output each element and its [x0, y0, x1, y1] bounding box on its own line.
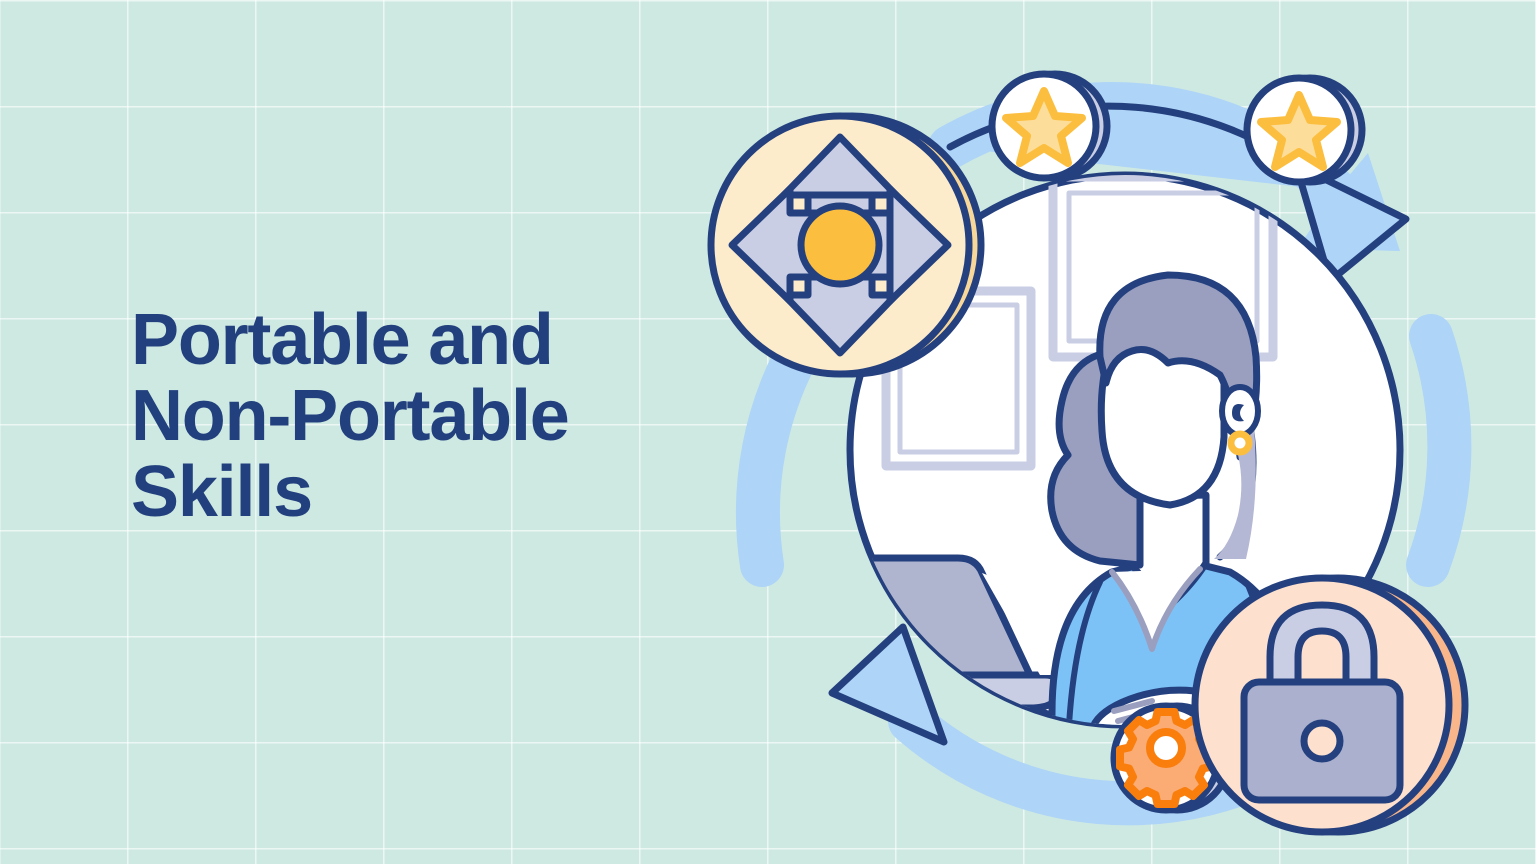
- page-title: Portable and Non-Portable Skills: [131, 302, 751, 530]
- lock-badge: [1195, 578, 1465, 832]
- illustration: [700, 45, 1536, 864]
- star-badge-left: [992, 74, 1107, 178]
- arrow-center-dot: [801, 206, 879, 284]
- title-block: Portable and Non-Portable Skills: [131, 302, 751, 530]
- cycle-arc-right: [1428, 336, 1449, 565]
- earring: [1231, 434, 1249, 452]
- star-badge-right: [1247, 78, 1362, 182]
- four-way-arrow-badge: [711, 116, 981, 374]
- cycle-arc-left: [758, 340, 805, 565]
- slide-canvas: Portable and Non-Portable Skills: [0, 0, 1536, 864]
